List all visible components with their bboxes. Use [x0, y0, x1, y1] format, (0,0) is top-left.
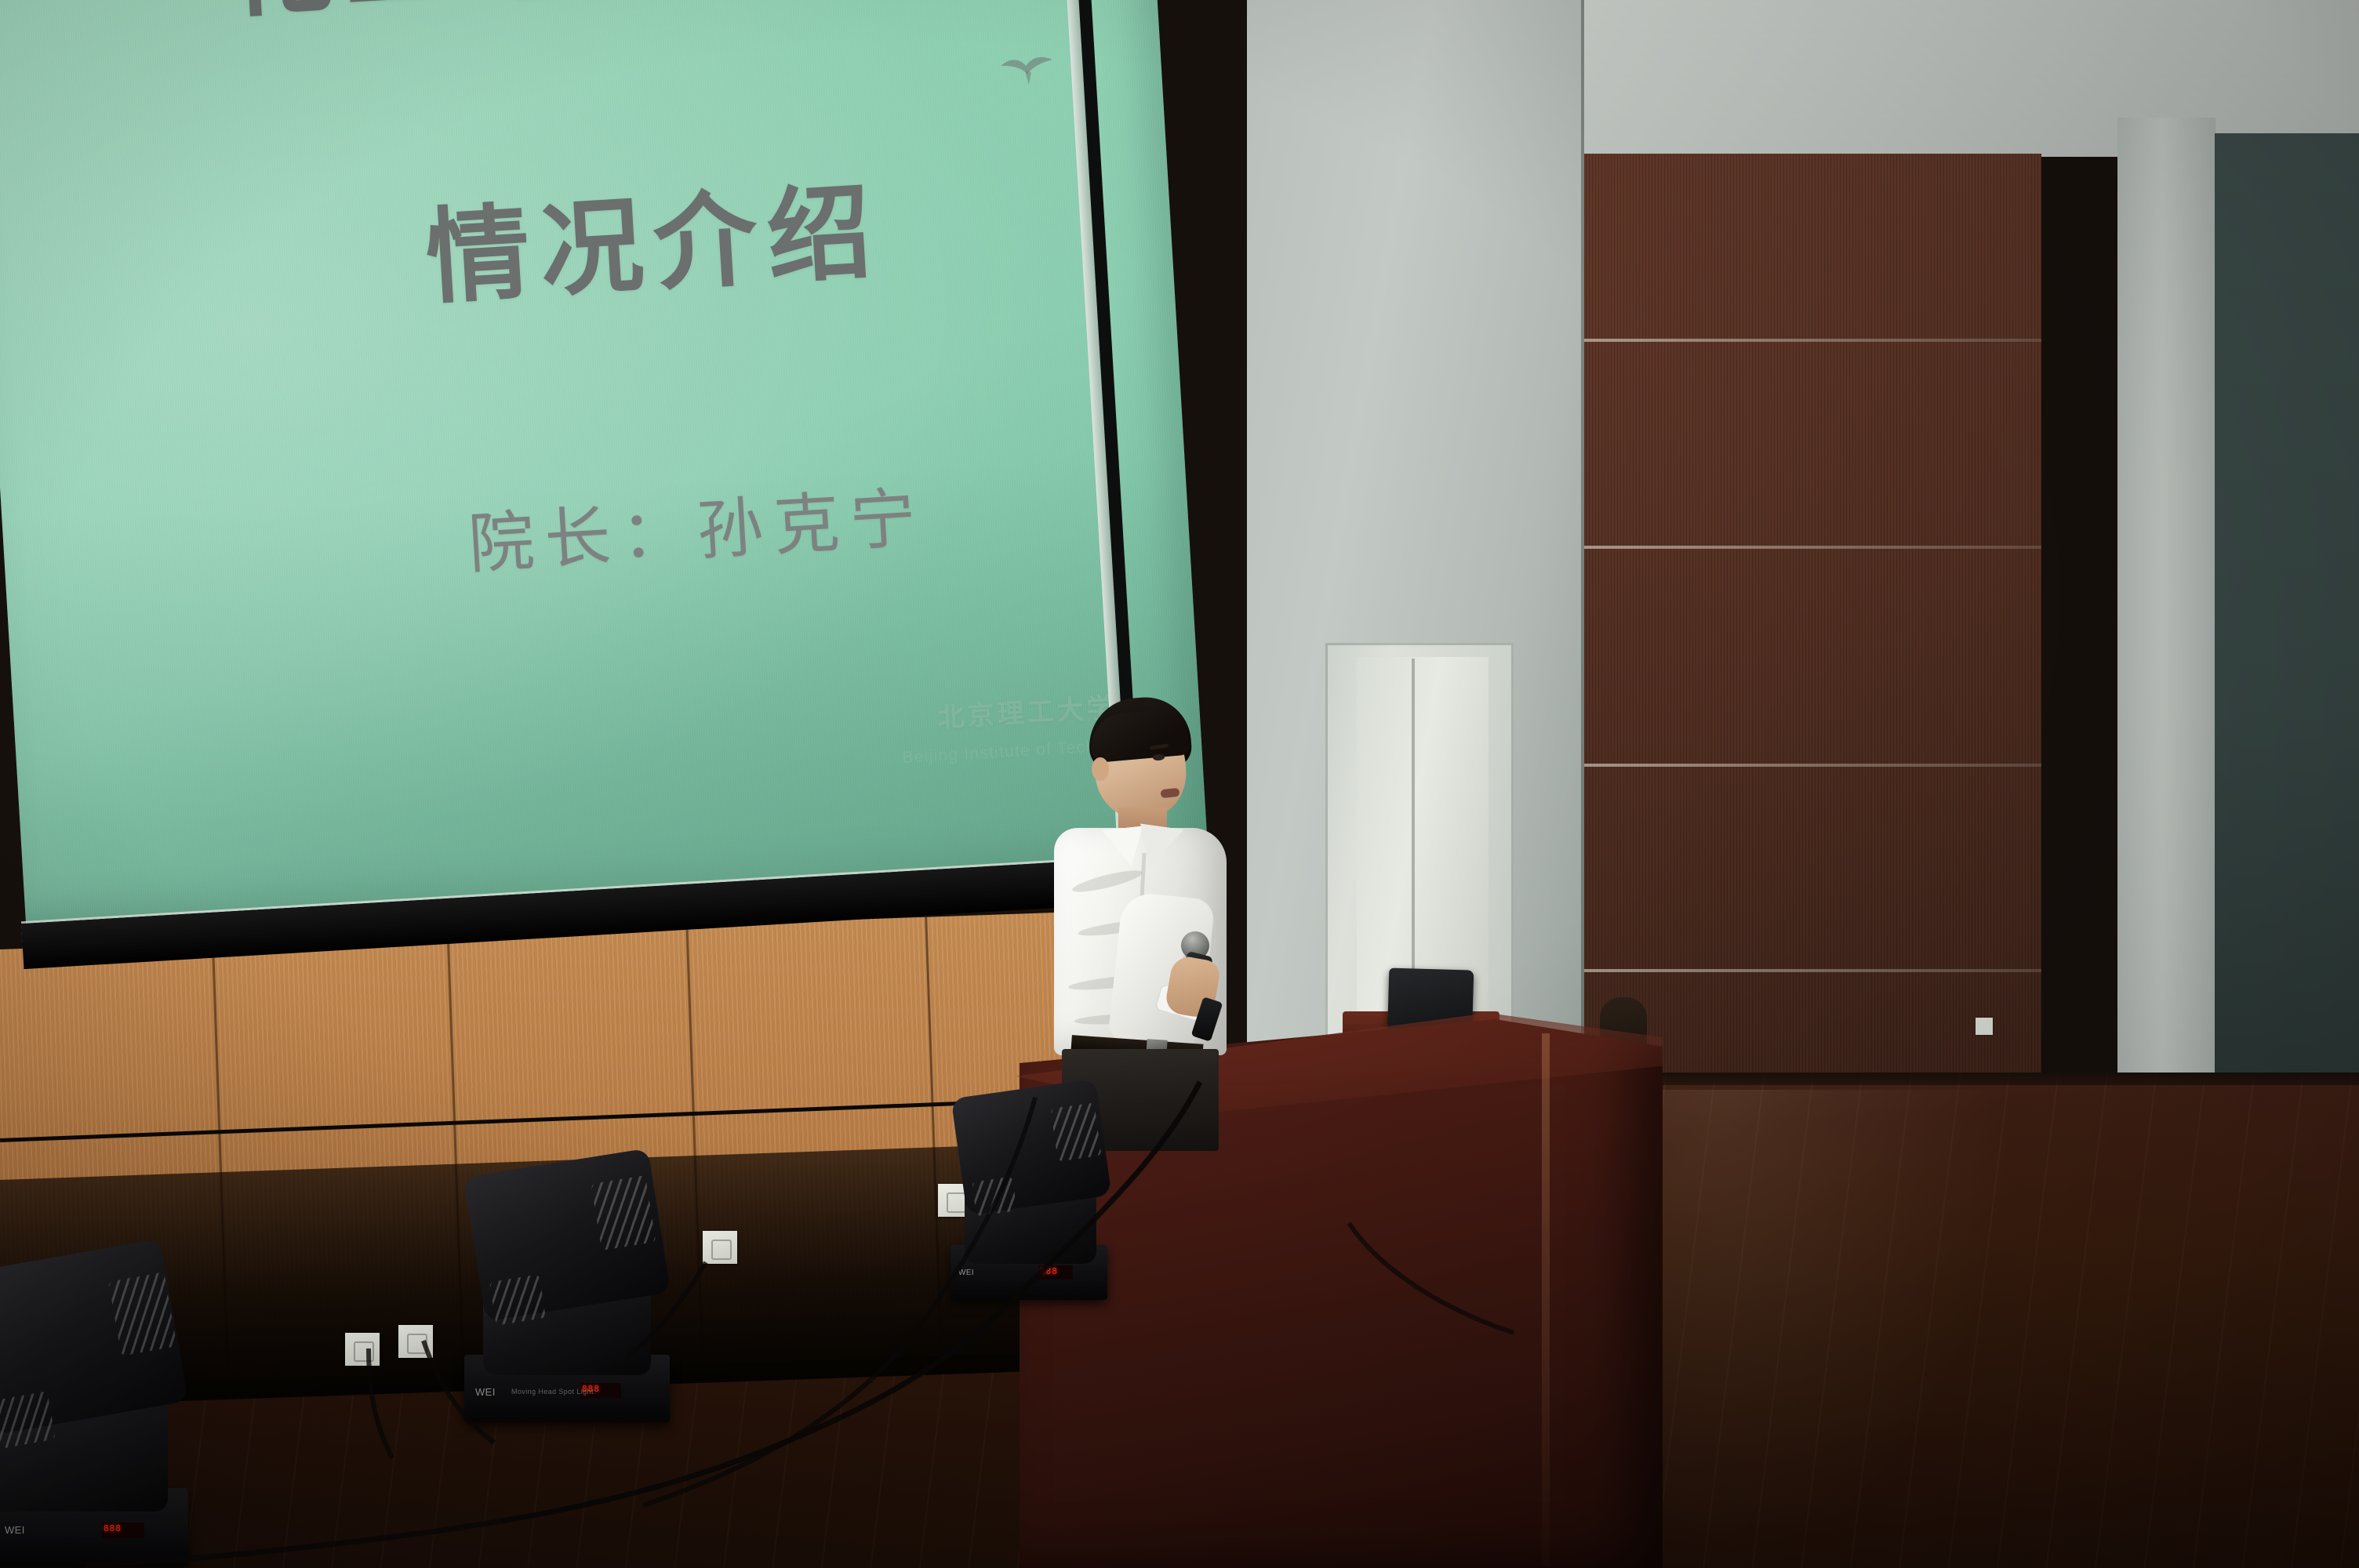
dark-wall-far-right — [2215, 133, 2359, 1082]
moving-head-light-center[interactable]: 888 WEI Moving Head Spot Light — [464, 1159, 676, 1433]
moving-head-brand-center: WEI — [475, 1386, 496, 1398]
lectern-edge-highlight — [1542, 1033, 1550, 1566]
wall-switch-plate[interactable] — [1976, 1018, 1993, 1035]
wall-outlet-3[interactable] — [703, 1231, 737, 1264]
lecture-hall-scene: 北京理工大学 Beijing Institute of Technology 化… — [0, 0, 2359, 1568]
presenter-ear — [1092, 757, 1109, 781]
moving-head-model-center: Moving Head Spot Light — [511, 1388, 594, 1396]
moving-head-brand-left: WEI — [5, 1524, 25, 1536]
plaster-wall-right — [2117, 118, 2215, 1090]
presenter — [1043, 698, 1294, 1137]
moving-head-display-left: 888 — [102, 1523, 144, 1534]
screen-vignette — [0, 0, 1208, 924]
acoustic-wood-panel-left — [1551, 154, 2041, 1102]
moving-head-brand-right: WEI — [958, 1269, 974, 1277]
wall-seam — [1581, 0, 1584, 1098]
projection-screen: 北京理工大学 Beijing Institute of Technology 化… — [0, 0, 1212, 1000]
wall-outlet-1[interactable] — [345, 1333, 380, 1366]
moving-head-display-right: 888 — [1038, 1265, 1073, 1277]
moving-head-light-right[interactable]: 888 WEI — [951, 1083, 1115, 1319]
wall-outlet-2[interactable] — [398, 1325, 433, 1358]
slide-title-line-2: 情况介绍 — [423, 180, 885, 310]
moving-head-light-left[interactable]: 888 WEI — [0, 1253, 196, 1568]
